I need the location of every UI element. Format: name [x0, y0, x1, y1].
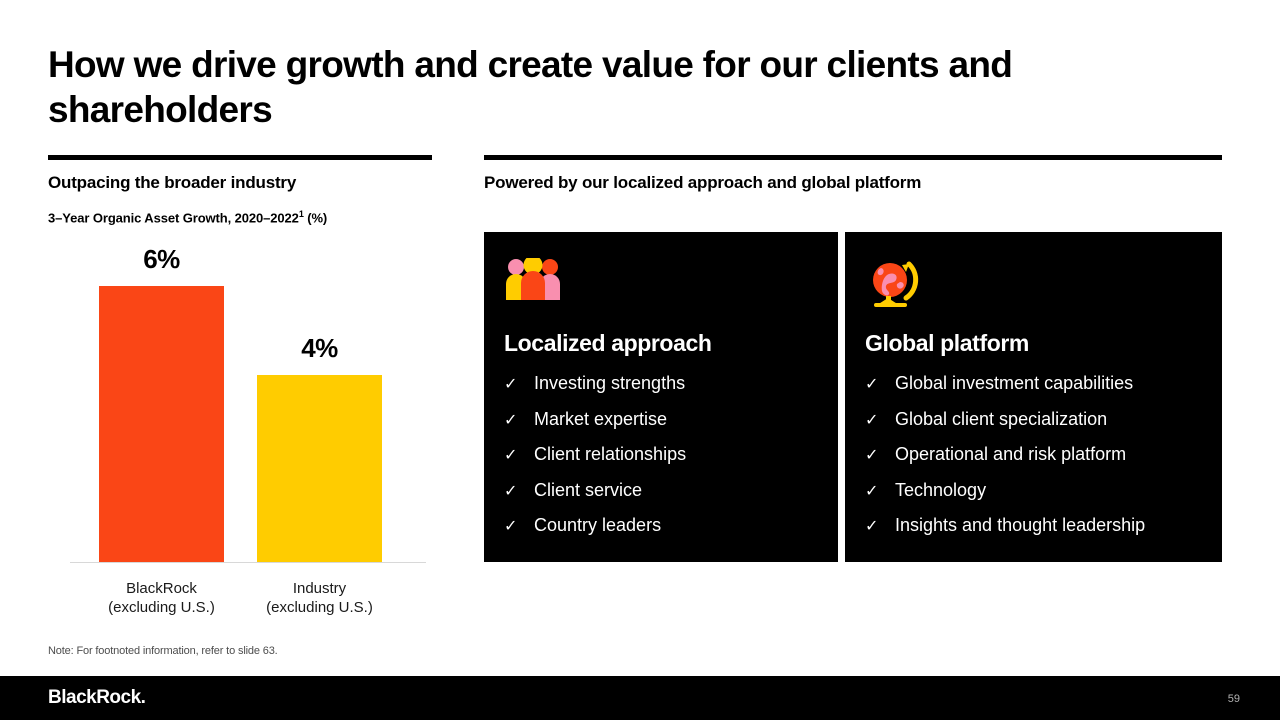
list-item-label: Global investment capabilities: [895, 374, 1133, 392]
check-icon: ✓: [504, 377, 534, 393]
left-section-header: Outpacing the broader industry: [48, 173, 296, 193]
bar-value-label-industry: 4%: [257, 333, 382, 364]
list-item-label: Client service: [534, 481, 642, 499]
bar-chart: 6% BlackRock (excluding U.S.) 4% Industr…: [48, 240, 448, 620]
check-icon: ✓: [865, 484, 895, 500]
list-item-label: Market expertise: [534, 410, 667, 428]
check-icon: ✓: [504, 413, 534, 429]
panel-global-platform: Global platform ✓Global investment capab…: [845, 232, 1222, 562]
bar-fill-blackrock: [99, 286, 224, 562]
bar-industry: 4% Industry (excluding U.S.): [257, 375, 382, 562]
list-item: ✓Market expertise: [504, 410, 686, 429]
bar-value-label-blackrock: 6%: [99, 244, 224, 275]
list-item: ✓Country leaders: [504, 516, 686, 535]
list-item: ✓Insights and thought leadership: [865, 516, 1145, 535]
panel-heading-global: Global platform: [865, 330, 1029, 357]
panel-localized-approach: Localized approach ✓Investing strengths …: [484, 232, 838, 562]
bar-category-label-industry: Industry (excluding U.S.): [229, 579, 410, 617]
list-item-label: Client relationships: [534, 445, 686, 463]
check-icon: ✓: [865, 413, 895, 429]
footer-bar: BlackRock. 59: [0, 676, 1280, 720]
chart-baseline: [70, 562, 426, 563]
check-icon: ✓: [865, 448, 895, 464]
list-item-label: Investing strengths: [534, 374, 685, 392]
check-icon: ✓: [865, 519, 895, 535]
blackrock-logo: BlackRock.: [48, 687, 145, 709]
list-item-label: Insights and thought leadership: [895, 516, 1145, 534]
list-item: ✓Global investment capabilities: [865, 374, 1145, 393]
list-item: ✓Client relationships: [504, 445, 686, 464]
list-item-label: Global client specialization: [895, 410, 1107, 428]
footnote-note: Note: For footnoted information, refer t…: [48, 645, 278, 657]
people-icon: [504, 258, 562, 305]
chart-subheader: 3–Year Organic Asset Growth, 2020–20221 …: [48, 209, 327, 225]
check-icon: ✓: [504, 484, 534, 500]
left-section-rule: [48, 155, 432, 160]
list-item-label: Country leaders: [534, 516, 661, 534]
globe-icon: [865, 258, 927, 313]
blackrock-logo-text: BlackRock: [48, 687, 141, 708]
page-title: How we drive growth and create value for…: [48, 42, 1108, 132]
right-section-header: Powered by our localized approach and gl…: [484, 173, 921, 193]
list-item: ✓Technology: [865, 481, 1145, 500]
bar-category-label-blackrock: BlackRock (excluding U.S.): [71, 579, 252, 617]
right-section-rule: [484, 155, 1222, 160]
bar-fill-industry: [257, 375, 382, 562]
list-item-label: Operational and risk platform: [895, 445, 1126, 463]
bar-blackrock: 6% BlackRock (excluding U.S.): [99, 286, 224, 562]
panel-list-localized: ✓Investing strengths ✓Market expertise ✓…: [504, 374, 686, 552]
panel-list-global: ✓Global investment capabilities ✓Global …: [865, 374, 1145, 552]
slide: How we drive growth and create value for…: [0, 0, 1280, 720]
chart-subheader-main: 3–Year Organic Asset Growth, 2020–2022: [48, 210, 299, 225]
list-item-label: Technology: [895, 481, 986, 499]
check-icon: ✓: [865, 377, 895, 393]
chart-subheader-unit: (%): [304, 210, 327, 225]
panel-heading-localized: Localized approach: [504, 330, 712, 357]
list-item: ✓Investing strengths: [504, 374, 686, 393]
check-icon: ✓: [504, 448, 534, 464]
page-number: 59: [1228, 693, 1240, 705]
list-item: ✓Global client specialization: [865, 410, 1145, 429]
list-item: ✓Client service: [504, 481, 686, 500]
list-item: ✓Operational and risk platform: [865, 445, 1145, 464]
blackrock-logo-dot: .: [141, 687, 146, 708]
check-icon: ✓: [504, 519, 534, 535]
